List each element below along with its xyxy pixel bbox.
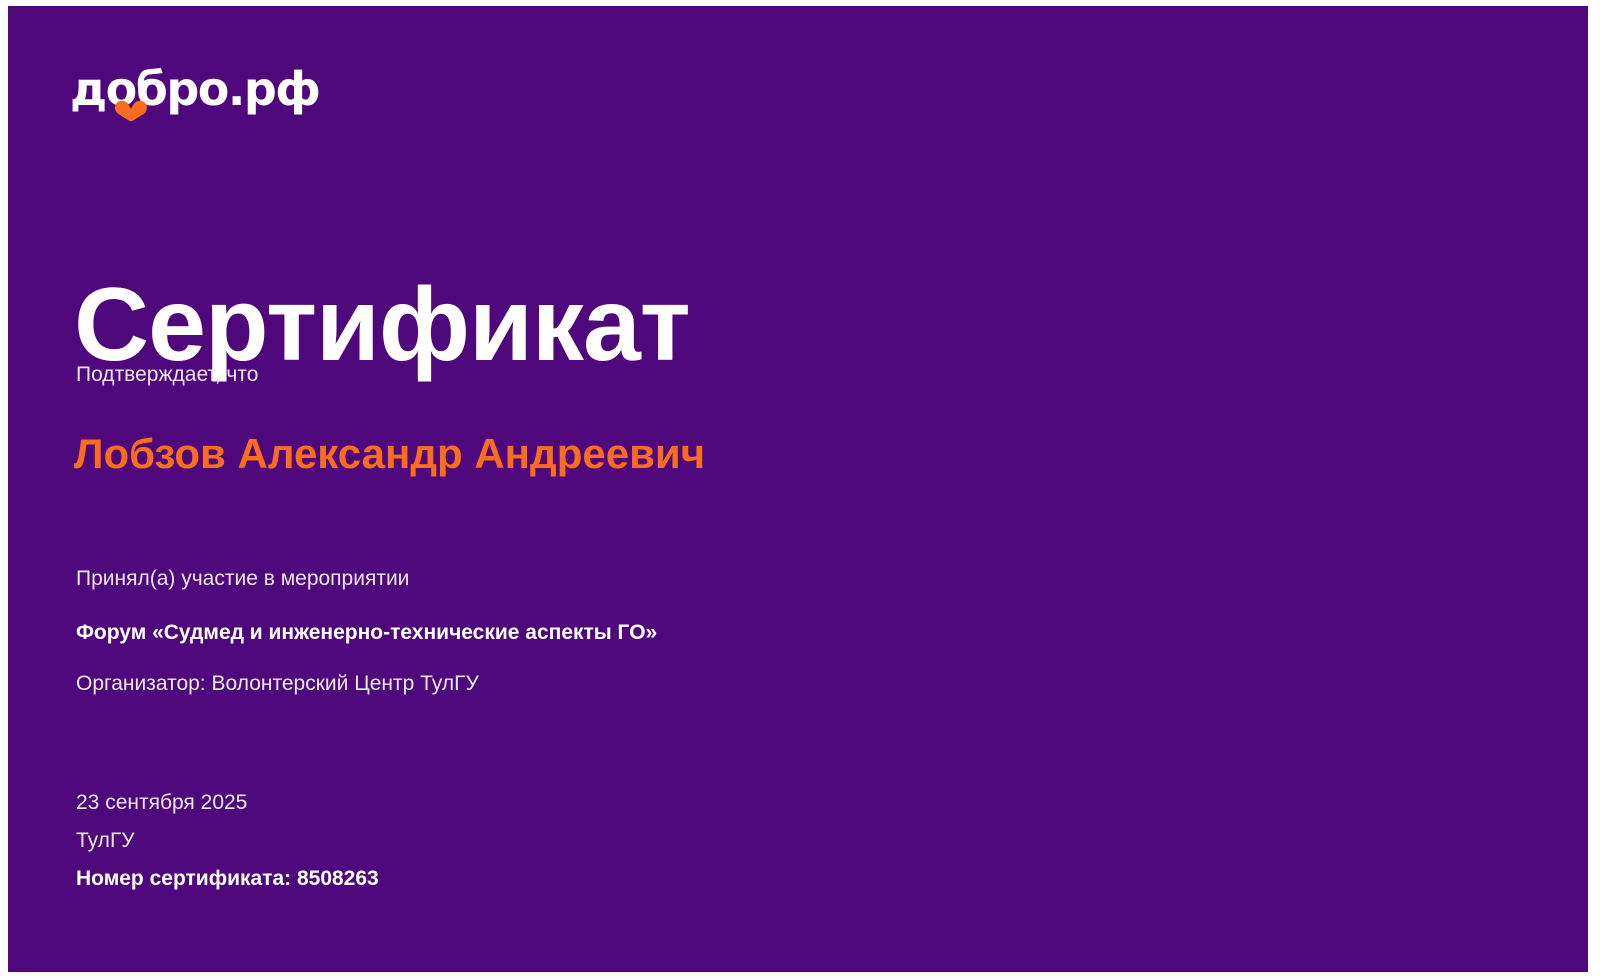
event-name: Форум «Судмед и инженерно-технические ас… (76, 619, 657, 647)
certificate-number: Номер сертификата: 8508263 (76, 860, 876, 898)
recipient-name: Лобзов Александр Андреевич (74, 421, 774, 487)
participation-line: Принял(а) участие в мероприятии (76, 565, 409, 593)
intro-line: Подтверждает, что (76, 361, 258, 389)
organizer-line: Организатор: Волонтерский Центр ТулГУ (76, 670, 479, 698)
heart-icon (114, 100, 148, 122)
issue-place: ТулГУ (76, 822, 876, 860)
certificate-card: добро.рф Сертификат Подтверждает, что Ло… (8, 6, 1588, 972)
issue-date: 23 сентября 2025 (76, 784, 876, 822)
certificate-footer: 23 сентября 2025 ТулГУ Номер сертификата… (76, 784, 876, 898)
dobro-rf-logo[interactable]: добро.рф (70, 62, 370, 122)
